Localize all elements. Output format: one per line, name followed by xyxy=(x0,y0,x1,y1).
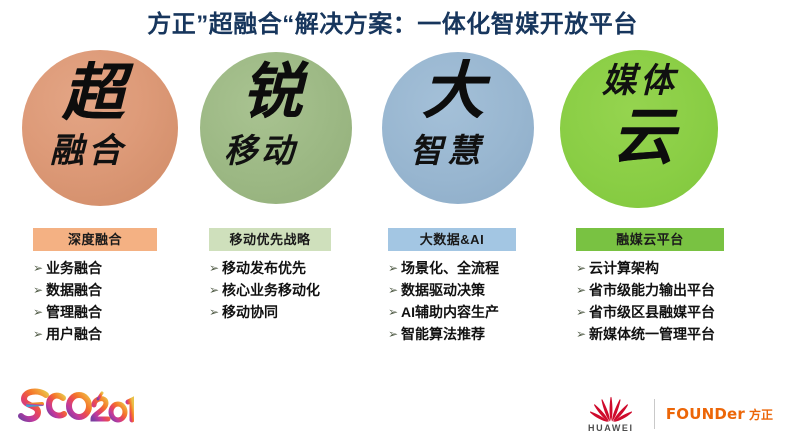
list-item-label: 移动协同 xyxy=(222,304,278,320)
huawei-wordmark: HUAWEI xyxy=(578,423,644,433)
circle-mei-ti-yun: 媒体 云 xyxy=(560,50,718,208)
column-big-data-ai: 大数据&AI ➢场景化、全流程 ➢数据驱动决策 ➢AI辅助内容生产 ➢智能算法推… xyxy=(388,228,516,345)
huawei-flower-icon xyxy=(589,396,633,422)
column-4-list: ➢云计算架构 ➢省市级能力输出平台 ➢省市级区县融媒平台 ➢新媒体统一管理平台 xyxy=(576,251,724,345)
column-media-cloud-platform: 融媒云平台 ➢云计算架构 ➢省市级能力输出平台 ➢省市级区县融媒平台 ➢新媒体统… xyxy=(576,228,724,345)
column-2-list: ➢移动发布优先 ➢核心业务移动化 ➢移动协同 xyxy=(209,251,331,323)
column-3-header: 大数据&AI xyxy=(388,228,516,251)
column-1-header: 深度融合 xyxy=(33,228,157,251)
list-item-label: 新媒体统一管理平台 xyxy=(589,326,715,342)
list-item-label: 省市级区县融媒平台 xyxy=(589,304,715,320)
arrow-bullet-icon: ➢ xyxy=(33,279,43,301)
circle-2-main-char: 锐 xyxy=(242,62,302,122)
calligraphy-circle-row: 超 融合 锐 移动 大 智慧 媒体 云 xyxy=(0,50,785,210)
founder-wordmark-en: FOUNDer xyxy=(666,405,745,423)
list-item: ➢移动协同 xyxy=(209,301,331,323)
arrow-bullet-icon: ➢ xyxy=(388,279,398,301)
list-item: ➢省市级能力输出平台 xyxy=(576,279,724,301)
arrow-bullet-icon: ➢ xyxy=(576,301,586,323)
list-item-label: 数据驱动决策 xyxy=(401,282,485,298)
circle-1-main-char: 超 xyxy=(62,62,124,124)
column-1-list: ➢业务融合 ➢数据融合 ➢管理融合 ➢用户融合 xyxy=(33,251,157,345)
list-item: ➢管理融合 xyxy=(33,301,157,323)
arrow-bullet-icon: ➢ xyxy=(388,257,398,279)
circle-3-sub-chars: 智慧 xyxy=(410,134,484,167)
list-item-label: 数据融合 xyxy=(46,282,102,298)
list-item-label: 云计算架构 xyxy=(589,260,659,276)
founder-logo: FOUNDer 方正 xyxy=(666,405,773,423)
list-item-label: 智能算法推荐 xyxy=(401,326,485,342)
arrow-bullet-icon: ➢ xyxy=(33,257,43,279)
list-item: ➢业务融合 xyxy=(33,257,157,279)
list-item: ➢核心业务移动化 xyxy=(209,279,331,301)
list-item: ➢数据驱动决策 xyxy=(388,279,516,301)
arrow-bullet-icon: ➢ xyxy=(576,279,586,301)
column-4-header: 融媒云平台 xyxy=(576,228,724,251)
column-mobile-first: 移动优先战略 ➢移动发布优先 ➢核心业务移动化 ➢移动协同 xyxy=(209,228,331,323)
circle-chao-rong-he: 超 融合 xyxy=(22,50,178,206)
arrow-bullet-icon: ➢ xyxy=(388,323,398,345)
arrow-bullet-icon: ➢ xyxy=(388,301,398,323)
list-item-label: 用户融合 xyxy=(46,326,102,342)
column-2-header: 移动优先战略 xyxy=(209,228,331,251)
list-item-label: 核心业务移动化 xyxy=(222,282,320,298)
brand-divider xyxy=(654,399,655,429)
circle-rui-yi-dong: 锐 移动 xyxy=(200,52,352,204)
circle-4-sub-chars: 媒体 xyxy=(602,64,678,98)
list-item: ➢移动发布优先 xyxy=(209,257,331,279)
arrow-bullet-icon: ➢ xyxy=(33,301,43,323)
list-item-label: 管理融合 xyxy=(46,304,102,320)
list-item-label: 场景化、全流程 xyxy=(401,260,499,276)
arrow-bullet-icon: ➢ xyxy=(576,257,586,279)
list-item: ➢智能算法推荐 xyxy=(388,323,516,345)
list-item-label: 移动发布优先 xyxy=(222,260,306,276)
brand-lockup: HUAWEI FOUNDer 方正 xyxy=(578,392,773,436)
list-item-label: AI辅助内容生产 xyxy=(401,304,499,320)
page-title: 方正”超融合“解决方案：一体化智媒开放平台 xyxy=(0,8,785,42)
list-item: ➢数据融合 xyxy=(33,279,157,301)
arrow-bullet-icon: ➢ xyxy=(209,257,219,279)
list-item-label: 省市级能力输出平台 xyxy=(589,282,715,298)
list-item: ➢省市级区县融媒平台 xyxy=(576,301,724,323)
arrow-bullet-icon: ➢ xyxy=(33,323,43,345)
huawei-logo: HUAWEI xyxy=(578,396,644,433)
feature-columns: 深度融合 ➢业务融合 ➢数据融合 ➢管理融合 ➢用户融合 移动优先战略 ➢移动发… xyxy=(0,228,785,378)
list-item: ➢AI辅助内容生产 xyxy=(388,301,516,323)
circle-da-zhi-hui: 大 智慧 xyxy=(382,52,534,204)
list-item: ➢用户融合 xyxy=(33,323,157,345)
arrow-bullet-icon: ➢ xyxy=(209,279,219,301)
column-deep-integration: 深度融合 ➢业务融合 ➢数据融合 ➢管理融合 ➢用户融合 xyxy=(33,228,157,345)
circle-2-sub-chars: 移动 xyxy=(224,134,298,167)
arrow-bullet-icon: ➢ xyxy=(576,323,586,345)
eco-2021-logo xyxy=(16,383,134,428)
list-item: ➢新媒体统一管理平台 xyxy=(576,323,724,345)
founder-wordmark-cn: 方正 xyxy=(749,406,773,423)
arrow-bullet-icon: ➢ xyxy=(209,301,219,323)
list-item-label: 业务融合 xyxy=(46,260,102,276)
circle-3-main-char: 大 xyxy=(422,60,484,122)
circle-4-main-char: 云 xyxy=(612,106,674,168)
column-3-list: ➢场景化、全流程 ➢数据驱动决策 ➢AI辅助内容生产 ➢智能算法推荐 xyxy=(388,251,516,345)
list-item: ➢云计算架构 xyxy=(576,257,724,279)
circle-1-sub-chars: 融合 xyxy=(50,134,126,168)
list-item: ➢场景化、全流程 xyxy=(388,257,516,279)
